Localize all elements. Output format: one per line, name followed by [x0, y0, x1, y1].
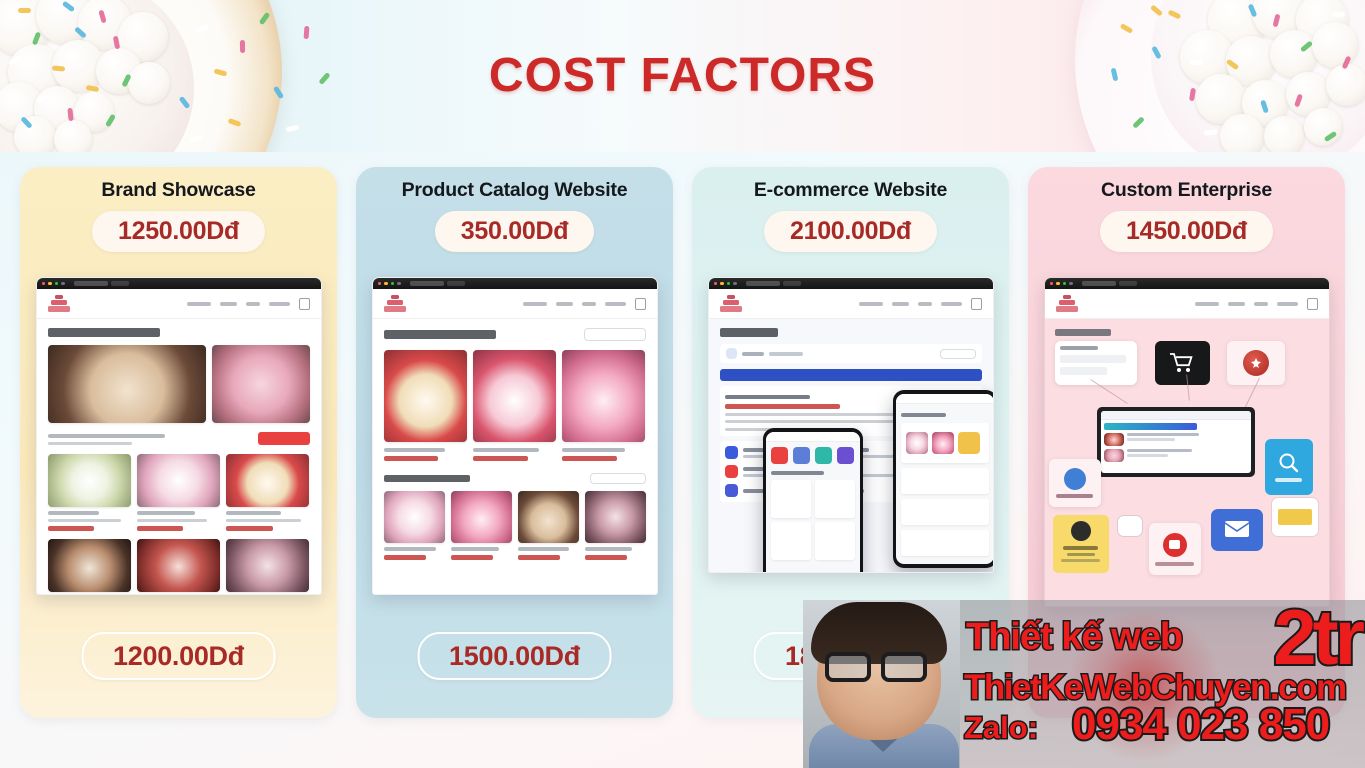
card-mockup [20, 277, 337, 595]
card-top-price-pill: 2100.00Dđ [764, 211, 937, 252]
chat-bubble-node [1271, 497, 1319, 537]
card-product-catalog[interactable]: Product Catalog Website 350.00Dđ [356, 167, 673, 718]
cake-logo-icon [720, 295, 742, 312]
section-heading [384, 475, 470, 482]
watermark-overlay: Thiết kế web 2tr ThietKeWebChuyen.com Za… [960, 600, 1365, 768]
phone-icon [726, 348, 737, 359]
card-mockup [692, 277, 1009, 573]
hero-image-2 [212, 345, 309, 423]
site-navbar [37, 289, 321, 319]
card-bottom-price: 1200.00Dđ [113, 641, 244, 672]
form-panel-node [1055, 341, 1137, 385]
site-nav-links [523, 298, 646, 310]
watermark-zalo-number: 0934 023 850 [1072, 700, 1329, 750]
profile-card-node [1053, 515, 1109, 573]
shopping-cart-icon [1155, 341, 1210, 385]
cake-logo-icon [48, 295, 70, 312]
card-top-price-pill: 350.00Dđ [435, 211, 594, 252]
site-navbar [373, 289, 657, 319]
presenter-webcam-overlay [803, 600, 960, 768]
cta-button[interactable] [584, 328, 646, 341]
hero-image [48, 345, 207, 423]
phone-screen [896, 394, 994, 564]
site-heading [720, 328, 778, 337]
integration-diagram [1045, 319, 1329, 606]
card-title: Product Catalog Website [356, 179, 673, 202]
cart-icon [299, 298, 310, 310]
filter-button[interactable] [940, 349, 976, 359]
customer-avatar-node [1049, 459, 1101, 507]
laptop-dashboard-node [1097, 407, 1255, 477]
site-nav-links [187, 298, 310, 310]
diagram-heading [1055, 329, 1111, 336]
site-nav-links [1195, 298, 1318, 310]
cart-icon [1307, 298, 1318, 310]
site-body [37, 319, 321, 595]
cart-icon [971, 298, 982, 310]
site-navbar [1045, 289, 1329, 319]
card-title: Custom Enterprise [1028, 179, 1345, 202]
cta-button[interactable] [258, 432, 310, 445]
card-title: E-commerce Website [692, 179, 1009, 202]
card-bottom-price-pill: 1200.00Dđ [81, 632, 276, 680]
card-brand-showcase[interactable]: Brand Showcase 1250.00Dđ [20, 167, 337, 718]
browser-chrome [373, 278, 657, 289]
browser-chrome [37, 278, 321, 289]
email-bubble-node [1211, 509, 1263, 551]
page-title: COST FACTORS [0, 48, 1365, 103]
card-top-price: 2100.00Dđ [790, 217, 911, 246]
browser-window [372, 277, 658, 595]
site-heading [384, 330, 496, 339]
browser-chrome [1045, 278, 1329, 289]
chat-count-bubble [1117, 515, 1143, 537]
cake-logo-icon [1056, 295, 1078, 312]
browser-window [1044, 277, 1330, 607]
site-nav-links [859, 298, 982, 310]
card-bottom-price-pill: 1500.00Dđ [417, 632, 612, 680]
watermark-zalo-label: Zalo: [964, 710, 1038, 746]
notification-icon-node [1149, 523, 1201, 575]
cake-logo-icon [384, 295, 406, 312]
browser-chrome [709, 278, 993, 289]
phone-mockup-back [893, 390, 994, 568]
card-top-price: 1450.00Dđ [1126, 217, 1247, 246]
site-body [373, 319, 657, 569]
section-cta-button[interactable] [590, 473, 646, 484]
phone-screen [766, 432, 860, 573]
card-top-price: 350.00Dđ [461, 217, 568, 246]
browser-window [36, 277, 322, 595]
cart-icon [635, 298, 646, 310]
card-top-price: 1250.00Dđ [118, 217, 239, 246]
browser-window [708, 277, 994, 573]
watermark-line-1: Thiết kế web [966, 616, 1182, 659]
card-top-price-pill: 1450.00Dđ [1100, 211, 1273, 252]
card-mockup [356, 277, 673, 595]
card-top-price-pill: 1250.00Dđ [92, 211, 265, 252]
card-bottom-price: 1500.00Dđ [449, 641, 580, 672]
badge-icon [1227, 341, 1285, 385]
phone-mockup-front [763, 428, 863, 573]
search-icon-node [1265, 439, 1313, 495]
card-mockup [1028, 277, 1345, 607]
site-heading [48, 328, 160, 337]
site-navbar [709, 289, 993, 319]
card-title: Brand Showcase [20, 179, 337, 202]
